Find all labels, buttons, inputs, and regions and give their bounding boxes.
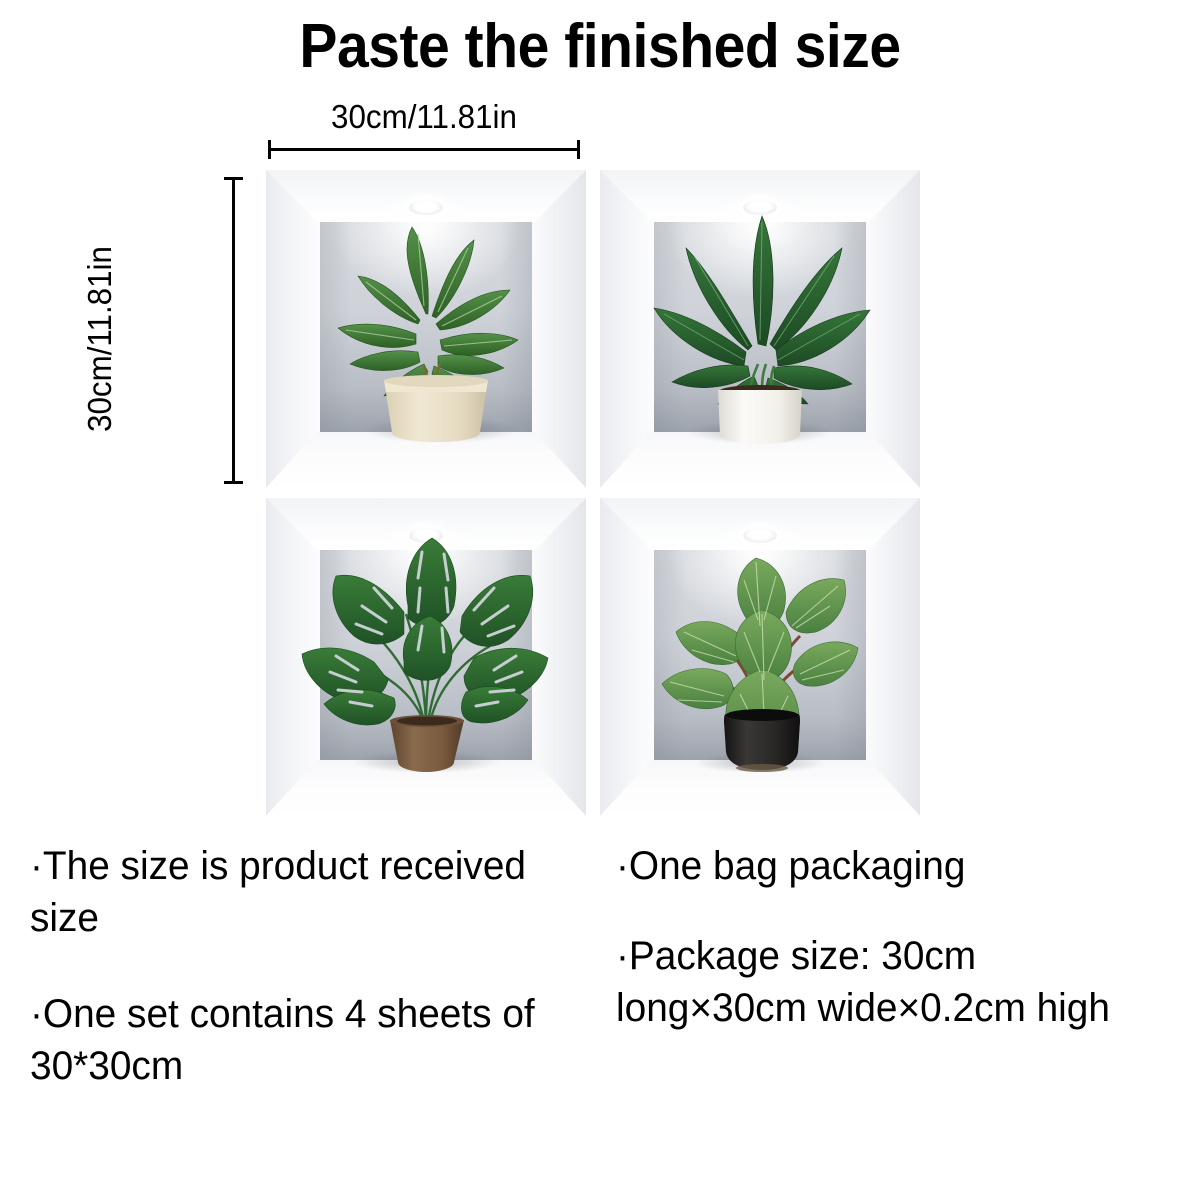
bracket-bar-vertical bbox=[232, 177, 235, 484]
bracket-tick-bottom bbox=[224, 481, 243, 484]
page-title: Paste the finished size bbox=[48, 14, 1152, 79]
plant-homalomena bbox=[600, 522, 920, 772]
note-set-contents: ·One set contains 4 sheets of 30*30cm bbox=[30, 988, 590, 1092]
width-dimension-label: 30cm/11.81in bbox=[276, 98, 572, 136]
plant-aglaonema bbox=[266, 194, 586, 444]
height-dimension-label: 30cm/11.81in bbox=[81, 191, 119, 487]
notes-column-right: ·One bag packaging ·Package size: 30cm l… bbox=[616, 840, 1191, 1034]
plant-monstera bbox=[266, 522, 586, 772]
product-notes: ·The size is product received size ·One … bbox=[0, 840, 1200, 1200]
sticker-panel-top-right[interactable] bbox=[600, 170, 920, 488]
notes-column-left: ·The size is product received size ·One … bbox=[30, 840, 590, 1092]
bracket-tick-right bbox=[577, 140, 580, 159]
note-size-received: ·The size is product received size bbox=[30, 840, 590, 944]
sticker-panel-bottom-left[interactable] bbox=[266, 498, 586, 816]
bracket-bar-horizontal bbox=[268, 148, 580, 151]
plant-peace-lily bbox=[600, 194, 920, 444]
height-dimension-bracket bbox=[224, 177, 242, 484]
note-packaging: ·One bag packaging bbox=[616, 840, 1191, 892]
width-dimension-bracket bbox=[268, 140, 580, 158]
sticker-panel-top-left[interactable] bbox=[266, 170, 586, 488]
sticker-panel-bottom-right[interactable] bbox=[600, 498, 920, 816]
note-package-size: ·Package size: 30cm long×30cm wide×0.2cm… bbox=[616, 930, 1191, 1034]
sticker-panel-grid bbox=[266, 170, 930, 822]
